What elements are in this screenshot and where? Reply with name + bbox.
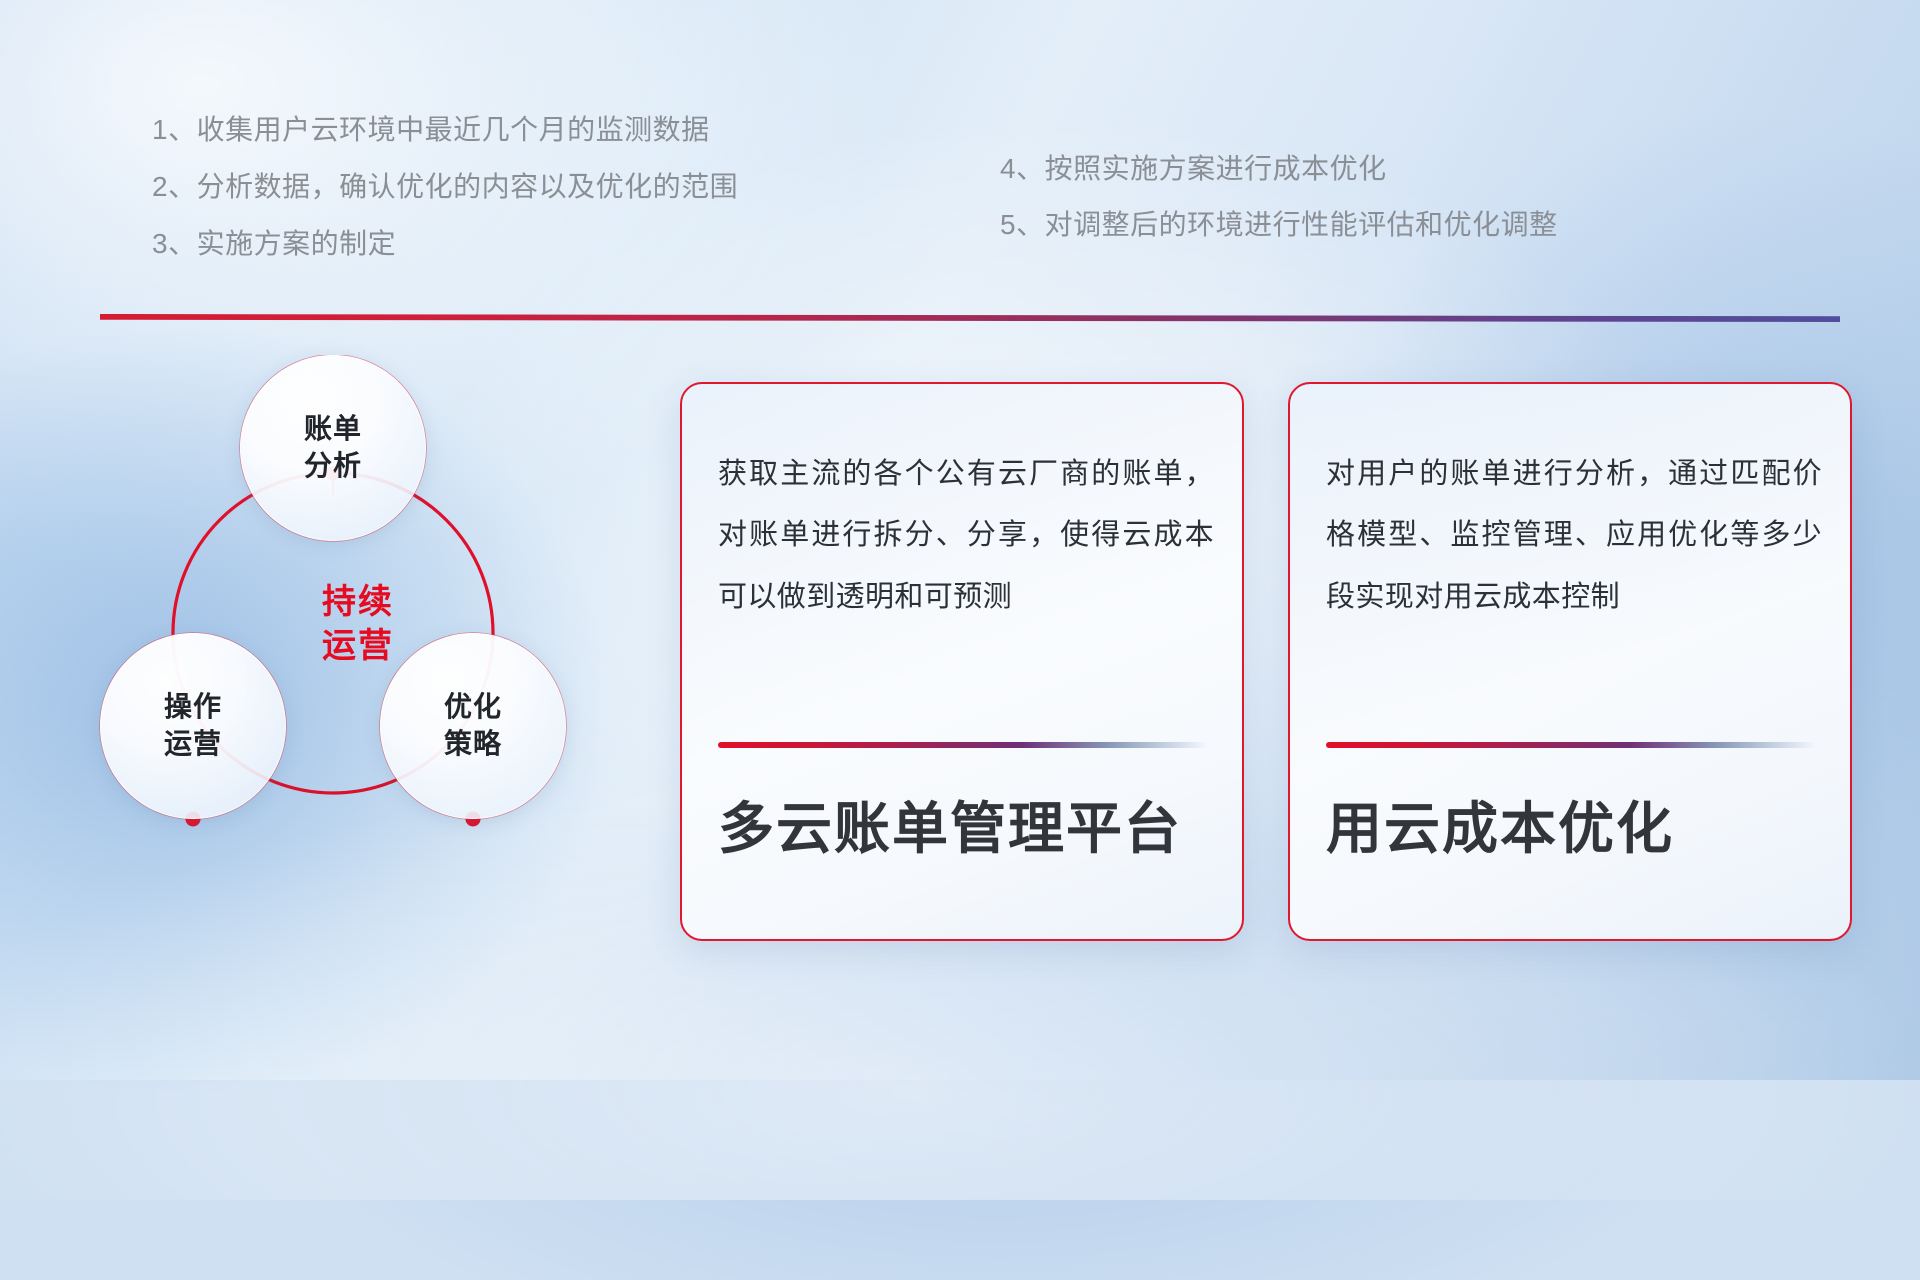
card-body-text: 对用户的账单进行分析，通过匹配价格模型、监控管理、应用优化等多少段实现对用云成本… [1326, 444, 1822, 628]
venn-bubble-label-line1: 优化 [444, 689, 502, 726]
card-body-text: 获取主流的各个公有云厂商的账单，对账单进行拆分、分享，使得云成本可以做到透明和可… [718, 444, 1214, 628]
venn-bubble-label-line1: 操作 [164, 689, 222, 726]
venn-diagram: 账单 分析 操作 运营 优化 策略 持续 运营 [90, 355, 630, 955]
venn-bubble-label-line1: 账单 [304, 411, 362, 448]
venn-bubble-billing-analysis[interactable]: 账单 分析 [240, 355, 426, 541]
venn-bubble-label-line2: 分析 [304, 448, 362, 485]
card-divider-line [718, 742, 1208, 748]
card-cloud-cost-optimization[interactable]: 对用户的账单进行分析，通过匹配价格模型、监控管理、应用优化等多少段实现对用云成本… [1288, 382, 1852, 941]
venn-center-label-line1: 持续 [322, 581, 394, 625]
steps-section: 1、收集用户云环境中最近几个月的监测数据 2、分析数据，确认优化的内容以及优化的… [0, 0, 1920, 300]
step-item: 2、分析数据，确认优化的内容以及优化的范围 [152, 173, 738, 201]
step-item: 5、对调整后的环境进行性能评估和优化调整 [1000, 211, 1558, 239]
venn-bubble-label-line2: 运营 [164, 726, 222, 763]
venn-center-label-line2: 运营 [322, 625, 394, 669]
card-divider-line [1326, 742, 1816, 748]
venn-bubble-label: 账单 分析 [240, 355, 426, 541]
venn-center-label: 持续 运营 [278, 560, 438, 690]
venn-bubble-label: 操作 运营 [100, 633, 286, 819]
card-title: 用云成本优化 [1326, 784, 1674, 865]
step-item: 3、实施方案的制定 [152, 230, 738, 258]
step-item: 1、收集用户云环境中最近几个月的监测数据 [152, 116, 738, 144]
steps-left-column: 1、收集用户云环境中最近几个月的监测数据 2、分析数据，确认优化的内容以及优化的… [152, 116, 738, 287]
card-title: 多云账单管理平台 [718, 784, 1182, 865]
card-multi-cloud-billing[interactable]: 获取主流的各个公有云厂商的账单，对账单进行拆分、分享，使得云成本可以做到透明和可… [680, 382, 1244, 941]
venn-bubble-operations[interactable]: 操作 运营 [100, 633, 286, 819]
steps-right-column: 4、按照实施方案进行成本优化 5、对调整后的环境进行性能评估和优化调整 [1000, 155, 1558, 267]
venn-bubble-label-line2: 策略 [444, 726, 502, 763]
step-item: 4、按照实施方案进行成本优化 [1000, 155, 1558, 183]
